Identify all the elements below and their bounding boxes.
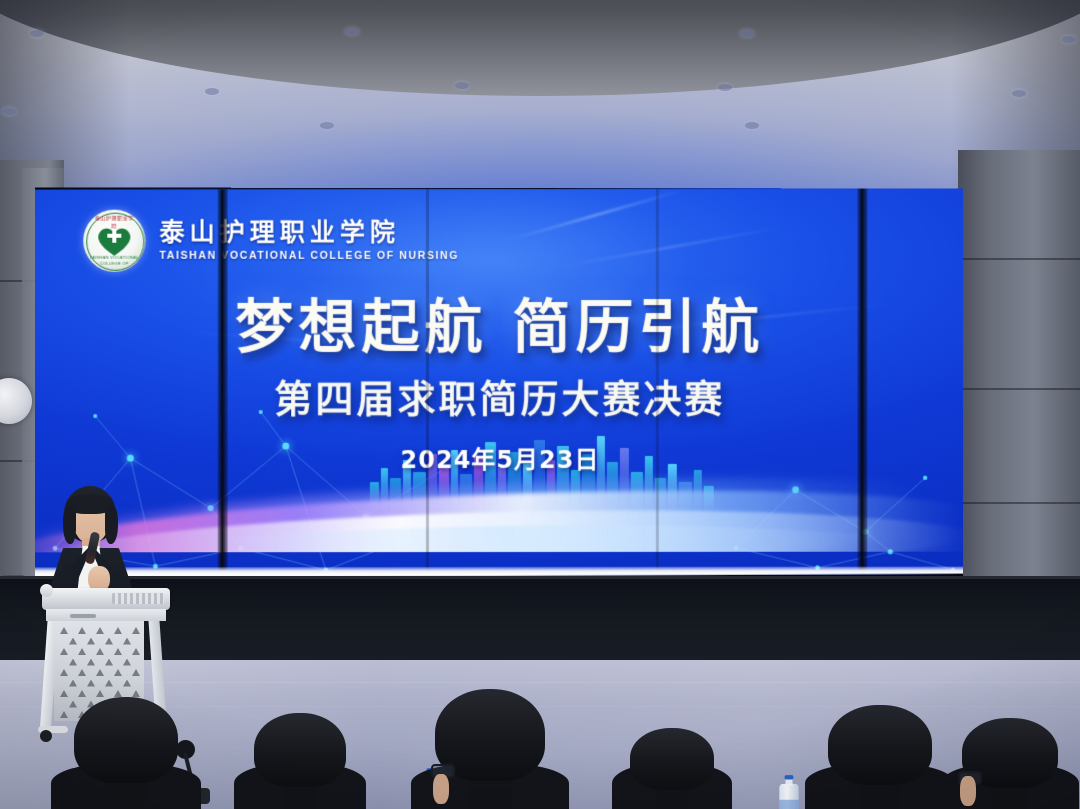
stage-photo-scene: 泰山护理职业学院 TAISHAN VOCATIONAL COLLEGE OF N… [0,0,1080,809]
event-title-sub: 第四届求职简历大赛决赛 [35,368,963,423]
led-panel-seam [218,188,228,579]
downlight-icon [320,122,334,129]
organization-name-en: TAISHAN VOCATIONAL COLLEGE OF NURSING [159,250,458,262]
audience-head-4 [630,677,714,809]
downlight-icon [1062,36,1076,43]
lectern-perforation [132,627,140,634]
led-panel-seam [656,188,659,578]
lectern-perforation [60,669,68,676]
led-panel-seam [857,188,867,577]
audience-head-6 [962,669,1058,809]
water-bottle [779,775,798,809]
lectern-perforation [69,638,77,645]
downlight-icon [1012,90,1026,97]
audience-head-2 [254,665,346,809]
lectern-perforation [60,711,68,718]
audience-head [74,697,178,783]
downlight-icon [740,30,754,37]
audience-head-3 [435,647,545,809]
lectern-perforation [96,627,104,634]
led-panel-seam [426,188,429,578]
lectern-control-keys [112,593,164,604]
audience-face-edge [433,774,449,804]
college-emblem-icon: 泰山护理职业学院 TAISHAN VOCATIONAL COLLEGE OF N… [83,210,145,272]
downlight-icon [745,122,759,129]
downlight-icon [345,28,359,35]
downlight-icon [2,108,16,115]
branding-header: 泰山护理职业学院 TAISHAN VOCATIONAL COLLEGE OF N… [83,210,459,272]
lectern-perforation [123,638,131,645]
lectern-perforation [60,648,68,655]
downlight-icon [455,82,469,89]
emblem-arc-top-text: 泰山护理职业学院 [93,215,135,229]
audience-head-5 [828,659,932,809]
ceiling-shading [0,0,1080,196]
downlight-icon [205,88,219,95]
emblem-arc-bottom-text: TAISHAN VOCATIONAL COLLEGE OF NURSING [89,255,139,267]
lectern-perforation [87,638,95,645]
led-video-wall: 泰山护理职业学院 TAISHAN VOCATIONAL COLLEGE OF N… [35,188,963,579]
downlight-icon [30,30,44,37]
audience-face-edge [960,776,976,806]
ceiling [0,0,1080,196]
organization-name-cn: 泰山护理职业学院 [159,220,458,245]
lectern-perforation [78,627,86,634]
event-date: 2024年5月23日 [35,440,963,475]
downlight-icon [718,84,732,91]
audience-head [254,713,346,787]
lectern-perforation [60,627,68,634]
lectern-perforation [60,690,68,697]
audience-head [828,705,932,785]
audience-head [630,728,714,790]
led-screen-content: 泰山护理职业学院 TAISHAN VOCATIONAL COLLEGE OF N… [35,188,963,579]
event-title-main: 梦想起航 简历引航 [35,280,963,364]
lectern-perforation [114,627,122,634]
lectern-perforation [105,638,113,645]
audience-head-1 [74,653,178,809]
